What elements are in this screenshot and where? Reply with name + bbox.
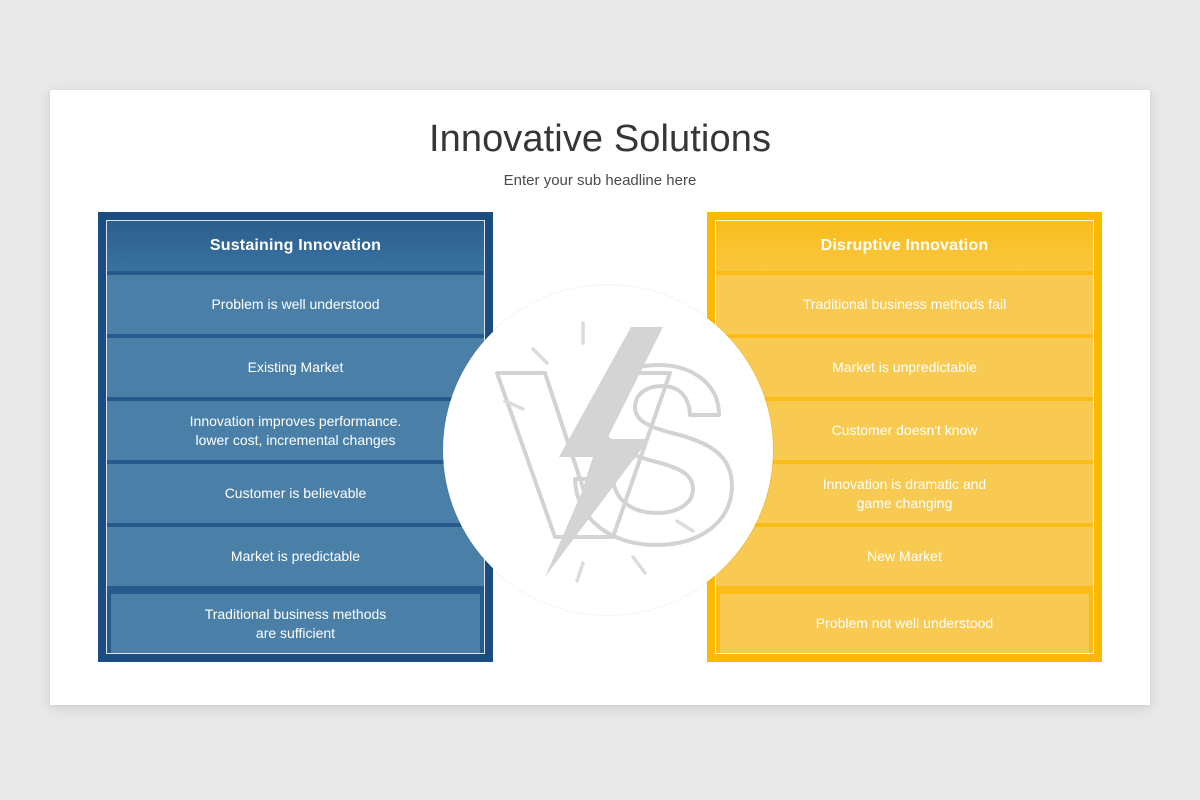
list-item[interactable]: Market is unpredictable <box>716 338 1093 397</box>
list-item[interactable]: Traditional business methods are suffici… <box>111 594 480 653</box>
list-item[interactable]: Innovation is dramatic and game changing <box>716 464 1093 523</box>
list-item[interactable]: New Market <box>716 527 1093 586</box>
panel-inner-left: Sustaining Innovation Problem is well un… <box>106 220 485 654</box>
vs-badge <box>443 285 773 615</box>
panel-sustaining-innovation: Sustaining Innovation Problem is well un… <box>98 212 493 662</box>
panel-header-right: Disruptive Innovation <box>716 221 1093 271</box>
vs-lightning-icon <box>463 305 753 595</box>
list-item[interactable]: Innovation improves performance. lower c… <box>107 401 484 460</box>
page-title: Innovative Solutions <box>50 118 1150 161</box>
list-item[interactable]: Problem is well understood <box>107 275 484 334</box>
list-item[interactable]: Market is predictable <box>107 527 484 586</box>
list-item[interactable]: Existing Market <box>107 338 484 397</box>
panel-header-left: Sustaining Innovation <box>107 221 484 271</box>
page-subtitle: Enter your sub headline here <box>50 172 1150 189</box>
list-item[interactable]: Problem not well understood <box>720 594 1089 653</box>
list-item[interactable]: Customer is believable <box>107 464 484 523</box>
list-item[interactable]: Traditional business methods fail <box>716 275 1093 334</box>
panel-rows-left: Problem is well understood Existing Mark… <box>107 271 484 653</box>
slide-card: Innovative Solutions Enter your sub head… <box>50 90 1150 705</box>
